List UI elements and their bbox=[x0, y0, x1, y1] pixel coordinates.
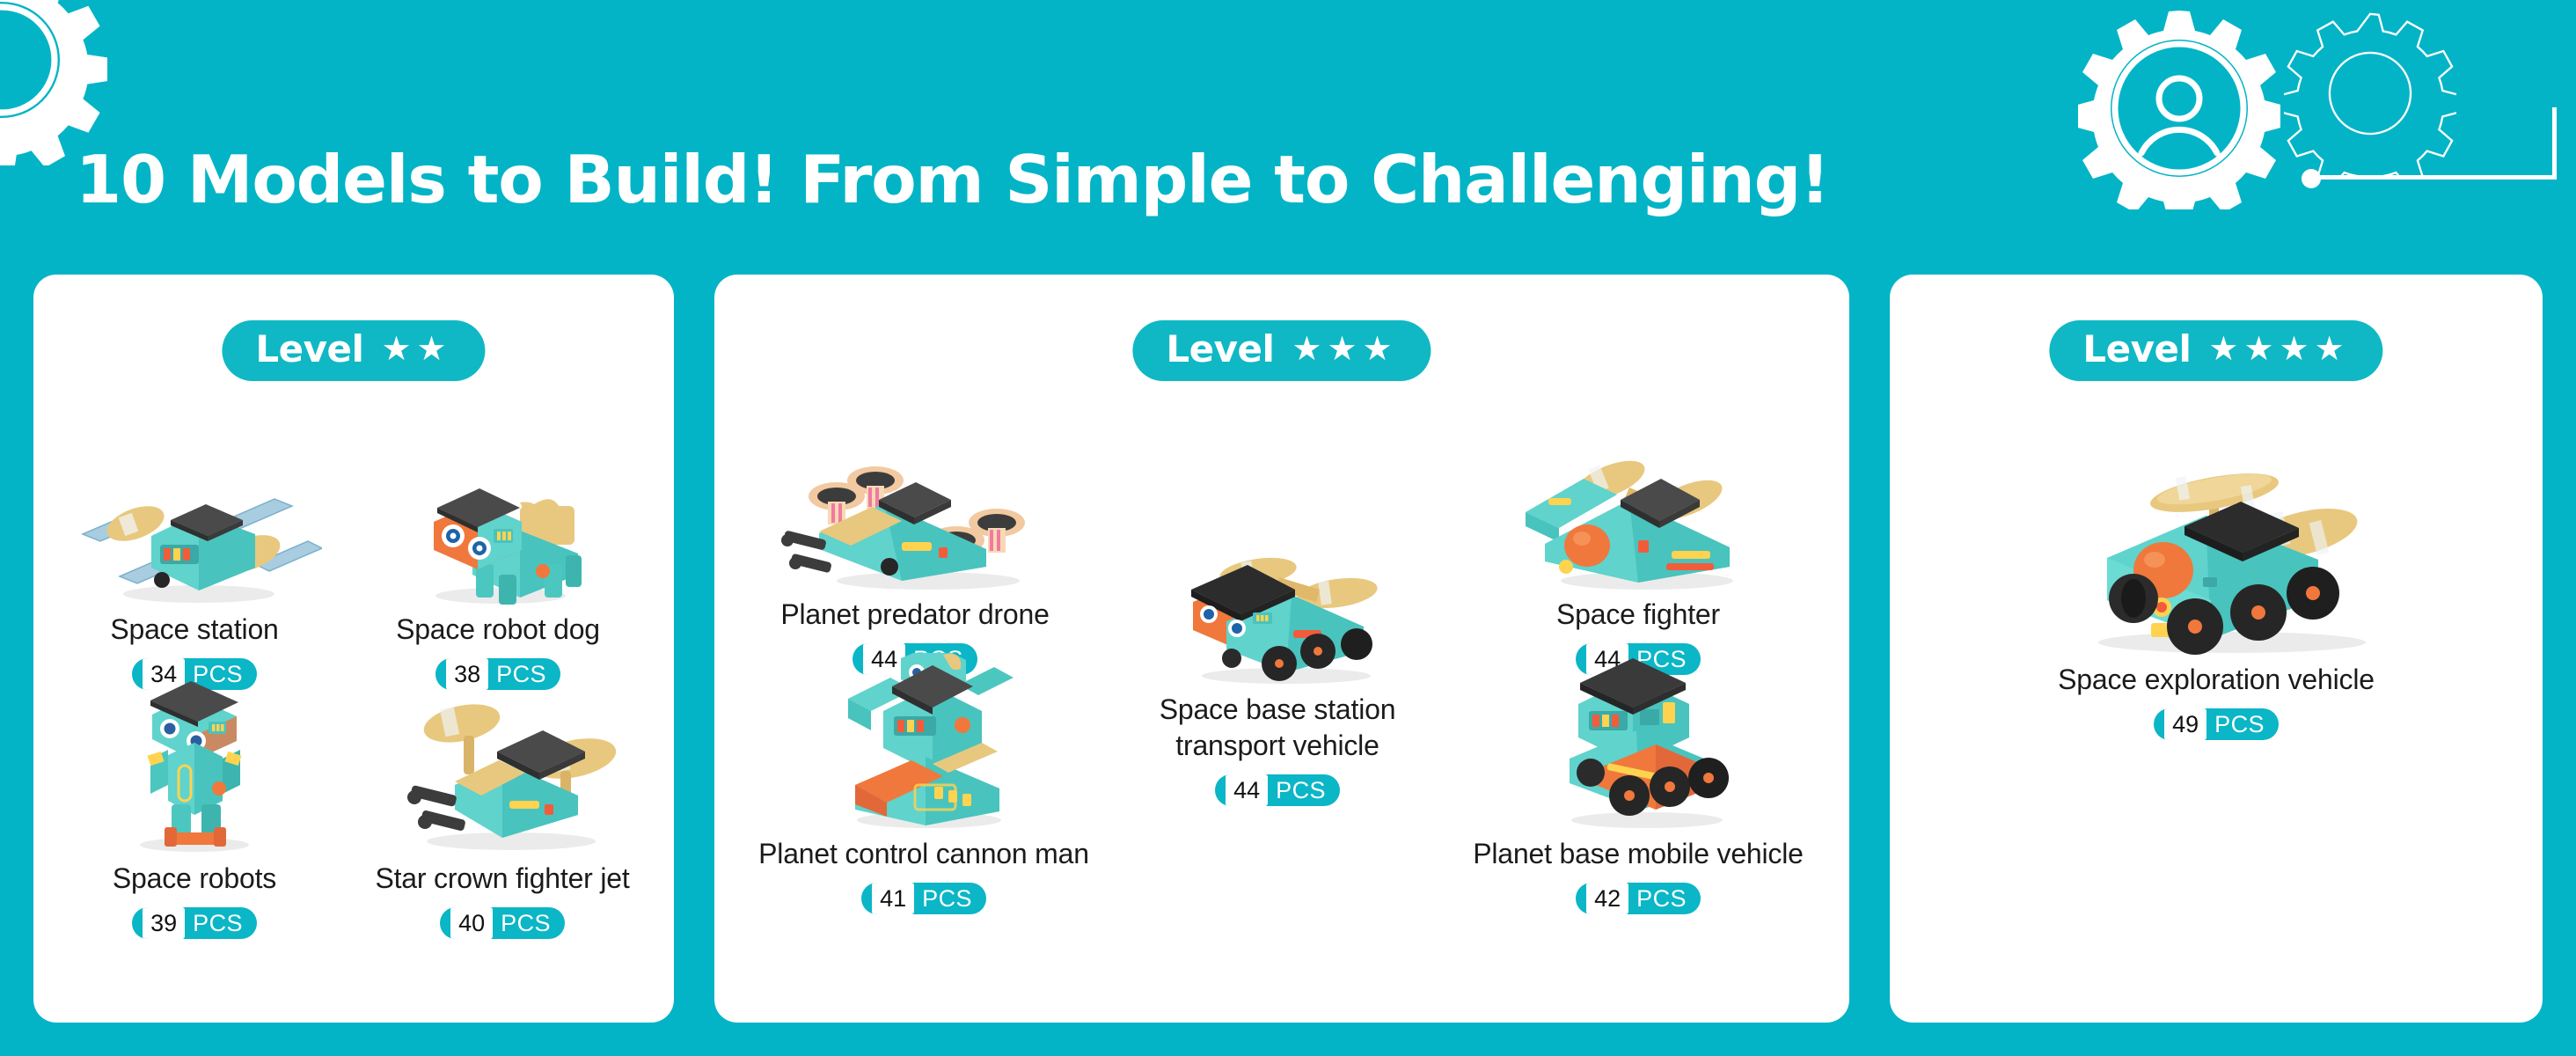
pcs-count: 41 bbox=[872, 883, 914, 914]
pcs-count: 44 bbox=[1226, 774, 1268, 806]
model-item[interactable]: Space robots 39 PCS bbox=[49, 678, 340, 939]
model-item[interactable]: Space base station transport vehicle 44 … bbox=[1093, 553, 1462, 806]
model-name: Planet predator drone bbox=[730, 597, 1100, 633]
model-name: Space fighter bbox=[1453, 597, 1823, 633]
model-item[interactable]: Planet predator drone 44 PCS bbox=[730, 449, 1100, 675]
model-item[interactable]: Star crown fighter jet 40 PCS bbox=[348, 678, 656, 939]
model-item[interactable]: Space station 34 PCS bbox=[49, 473, 340, 690]
pcs-unit: PCS bbox=[2207, 708, 2277, 740]
pcs-badge: 44 PCS bbox=[1215, 774, 1340, 806]
pcs-count: 42 bbox=[1586, 883, 1628, 914]
model-name: Space robots bbox=[49, 861, 340, 897]
pcs-unit: PCS bbox=[1269, 774, 1338, 806]
pcs-unit: PCS bbox=[186, 907, 255, 939]
model-image bbox=[730, 653, 1117, 829]
pcs-badge: 49 PCS bbox=[2154, 708, 2279, 740]
pcs-count: 39 bbox=[143, 907, 185, 939]
level-card-3-stars: Level ★★★ bbox=[714, 275, 1849, 1023]
model-name: Space exploration vehicle bbox=[1908, 662, 2524, 698]
level-stars: ★★★ bbox=[1292, 333, 1397, 366]
space-fighter-toy-icon bbox=[1506, 449, 1770, 590]
base-mobile-vehicle-toy-icon bbox=[1524, 653, 1753, 829]
model-image bbox=[348, 473, 648, 605]
level-stars: ★★★★ bbox=[2208, 333, 2349, 366]
model-image bbox=[1453, 449, 1823, 590]
predator-drone-toy-icon bbox=[770, 449, 1060, 590]
model-name: Planet base mobile vehicle bbox=[1445, 836, 1832, 872]
pcs-count: 40 bbox=[450, 907, 493, 939]
pcs-badge: 41 PCS bbox=[861, 883, 986, 914]
pcs-badge: 42 PCS bbox=[1576, 883, 1701, 914]
model-name: Space base station transport vehicle bbox=[1093, 692, 1462, 764]
pcs-badge: 39 PCS bbox=[132, 907, 257, 939]
exploration-vehicle-toy-icon bbox=[2023, 435, 2410, 655]
transport-vehicle-toy-icon bbox=[1145, 553, 1409, 685]
page-title: 10 Models to Build! From Simple to Chall… bbox=[76, 141, 1829, 218]
level-stars: ★★ bbox=[381, 333, 451, 366]
model-name: Space station bbox=[49, 612, 340, 648]
model-image bbox=[1908, 435, 2524, 655]
level-badge: Level ★★★★ bbox=[2049, 320, 2382, 381]
pcs-unit: PCS bbox=[915, 883, 984, 914]
corner-bracket-icon bbox=[2309, 107, 2557, 180]
model-item[interactable]: Space robot dog 38 PCS bbox=[348, 473, 648, 690]
model-item[interactable]: Space exploration vehicle 49 PCS bbox=[1908, 435, 2524, 740]
model-item[interactable]: Planet base mobile vehicle 42 PCS bbox=[1445, 653, 1832, 914]
model-image bbox=[49, 678, 340, 854]
model-image bbox=[348, 678, 656, 854]
model-image bbox=[49, 473, 340, 605]
promo-banner: 10 Models to Build! From Simple to Chall… bbox=[0, 0, 2576, 1056]
model-image bbox=[730, 449, 1100, 590]
space-robot-toy-icon bbox=[106, 678, 282, 854]
gear-with-person-icon bbox=[2078, 7, 2280, 209]
level-card-2-stars: Level ★★ bbox=[33, 275, 674, 1023]
model-name: Star crown fighter jet bbox=[348, 861, 656, 897]
robot-dog-toy-icon bbox=[388, 473, 608, 605]
model-item[interactable]: Planet control cannon man 41 PCS bbox=[730, 653, 1117, 914]
model-item[interactable]: Space fighter 44 PCS bbox=[1453, 449, 1823, 675]
model-image bbox=[1445, 653, 1832, 829]
model-name: Planet control cannon man bbox=[730, 836, 1117, 872]
pcs-unit: PCS bbox=[1629, 883, 1699, 914]
model-image bbox=[1093, 553, 1462, 685]
fighter-jet-toy-icon bbox=[370, 678, 634, 854]
level-card-4-stars: Level ★★★★ bbox=[1890, 275, 2543, 1023]
model-name: Space robot dog bbox=[348, 612, 648, 648]
level-label: Level bbox=[2082, 331, 2191, 368]
pcs-unit: PCS bbox=[494, 907, 563, 939]
level-label: Level bbox=[1166, 331, 1274, 368]
pcs-badge: 40 PCS bbox=[440, 907, 565, 939]
level-badge: Level ★★★ bbox=[1132, 320, 1431, 381]
cannon-man-toy-icon bbox=[809, 653, 1038, 829]
space-station-toy-icon bbox=[67, 473, 322, 605]
level-cards-row: Level ★★ bbox=[33, 275, 2543, 1023]
level-badge: Level ★★ bbox=[222, 320, 485, 381]
level-label: Level bbox=[255, 331, 363, 368]
pcs-count: 49 bbox=[2164, 708, 2206, 740]
